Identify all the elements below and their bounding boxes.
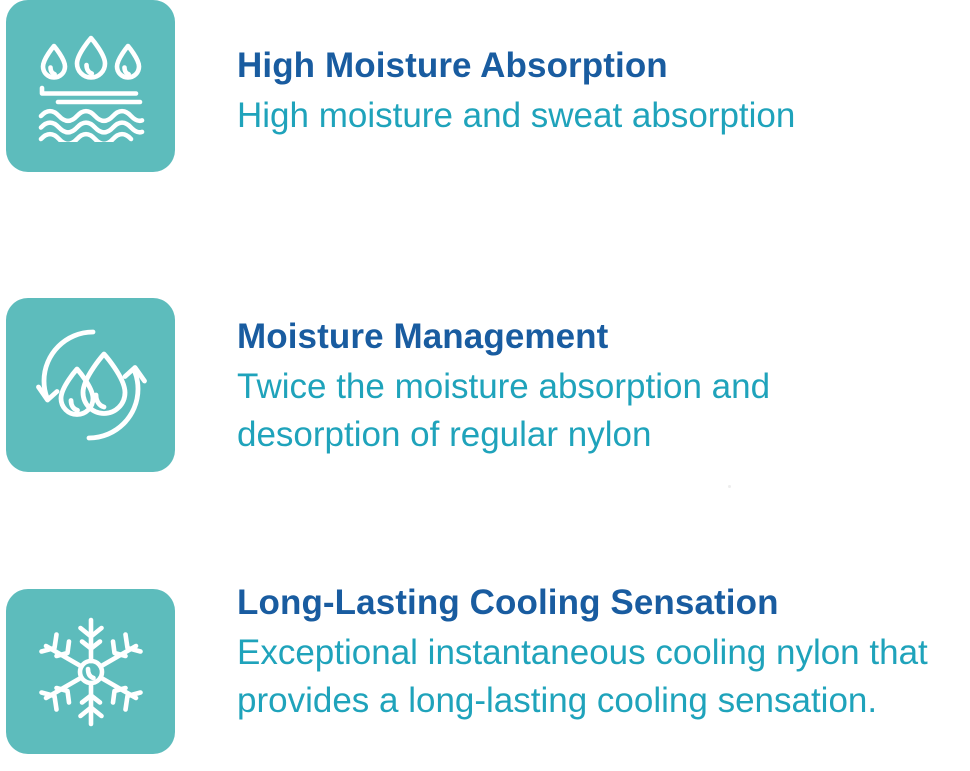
feature-title: Long-Lasting Cooling Sensation bbox=[237, 581, 970, 625]
feature-item: High Moisture Absorption High moisture a… bbox=[0, 0, 970, 172]
feature-icon-tile bbox=[6, 298, 175, 472]
feature-title: Moisture Management bbox=[237, 315, 970, 359]
feature-item: Long-Lasting Cooling Sensation Exception… bbox=[0, 583, 970, 754]
feature-item: Moisture Management Twice the moisture a… bbox=[0, 292, 970, 472]
feature-description: High moisture and sweat absorption bbox=[237, 92, 970, 140]
feature-icon-tile bbox=[6, 589, 175, 754]
feature-title: High Moisture Absorption bbox=[237, 44, 970, 88]
feature-icon-tile bbox=[6, 0, 175, 172]
feature-list: High Moisture Absorption High moisture a… bbox=[0, 0, 970, 771]
feature-text-block: Moisture Management Twice the moisture a… bbox=[237, 292, 970, 459]
moisture-absorption-icon bbox=[32, 30, 150, 142]
feature-text-block: Long-Lasting Cooling Sensation Exception… bbox=[237, 581, 970, 725]
snowflake-cooling-icon bbox=[33, 614, 149, 730]
feature-description: Exceptional instantaneous cooling nylon … bbox=[237, 629, 970, 725]
feature-description: Twice the moisture absorption and desorp… bbox=[237, 363, 897, 459]
feature-text-block: High Moisture Absorption High moisture a… bbox=[237, 0, 970, 140]
moisture-management-cycle-icon bbox=[31, 325, 151, 445]
watermark-dot bbox=[728, 485, 731, 488]
